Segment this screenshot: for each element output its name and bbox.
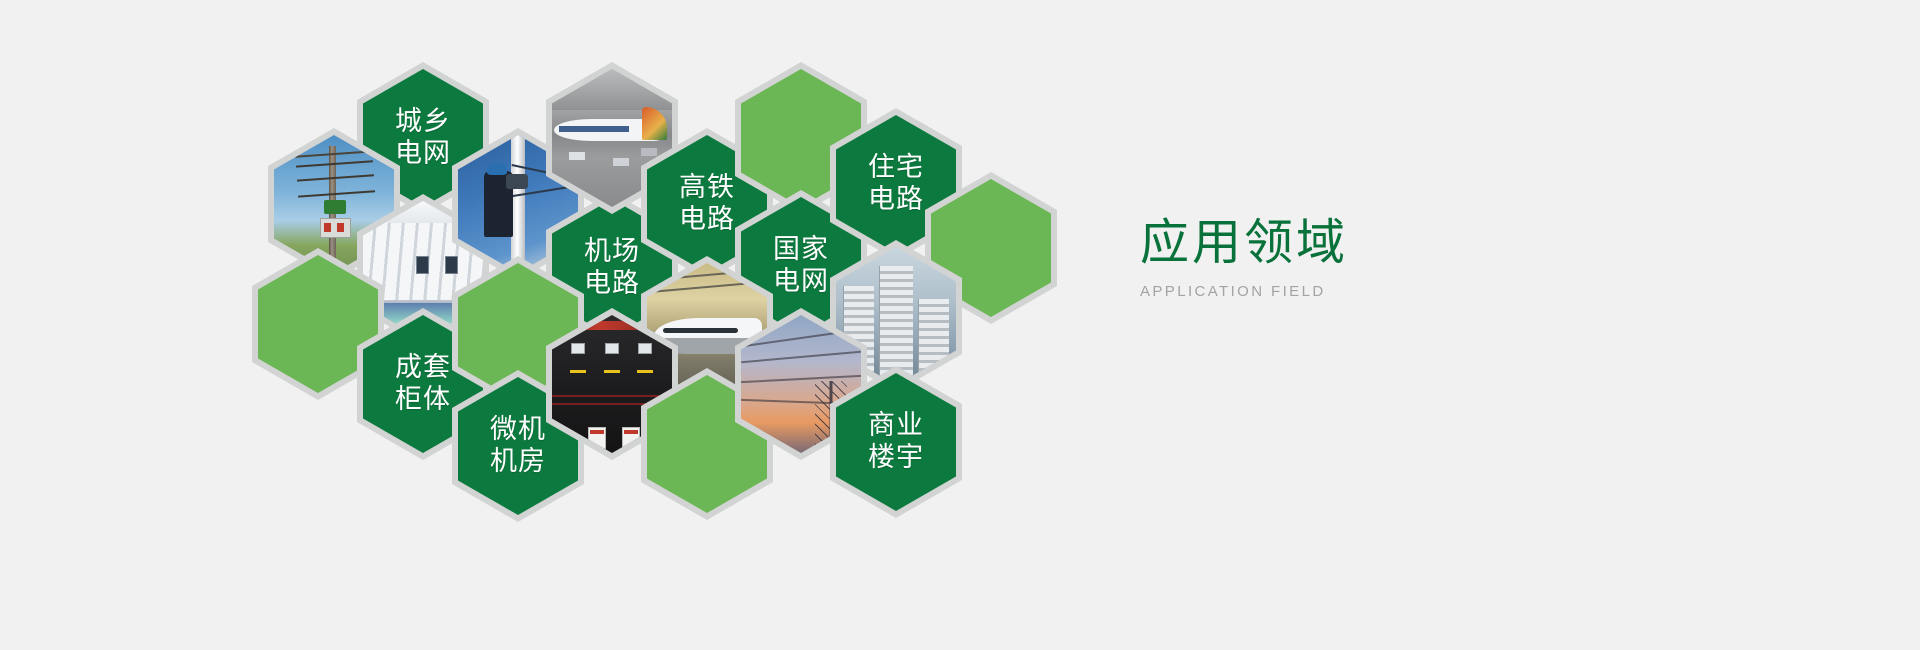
hex-label: 住宅 电路 (868, 152, 924, 216)
page-subtitle: APPLICATION FIELD (1140, 283, 1560, 300)
hex-label: 高铁 电路 (679, 172, 735, 236)
hex-label: 机场 电路 (584, 236, 640, 300)
application-field-banner: 城乡 电网机场 电路高铁 电路国家 电网住宅 电路成套 柜体微机 机房商业 楼宇… (0, 0, 1920, 650)
page-title: 应用领域 (1140, 218, 1560, 267)
hexagon-honeycomb: 城乡 电网机场 电路高铁 电路国家 电网住宅 电路成套 柜体微机 机房商业 楼宇 (0, 0, 1100, 650)
hex-label: 成套 柜体 (395, 352, 451, 416)
hex-label: 微机 机房 (490, 414, 546, 478)
hex-label: 城乡 电网 (395, 106, 451, 170)
hex-label: 国家 电网 (773, 234, 829, 298)
heading-block: 应用领域 APPLICATION FIELD (1140, 218, 1560, 300)
hex-label: 商业 楼宇 (868, 410, 924, 474)
hex-cell-commercial-building[interactable]: 商业 楼宇 (830, 366, 962, 518)
